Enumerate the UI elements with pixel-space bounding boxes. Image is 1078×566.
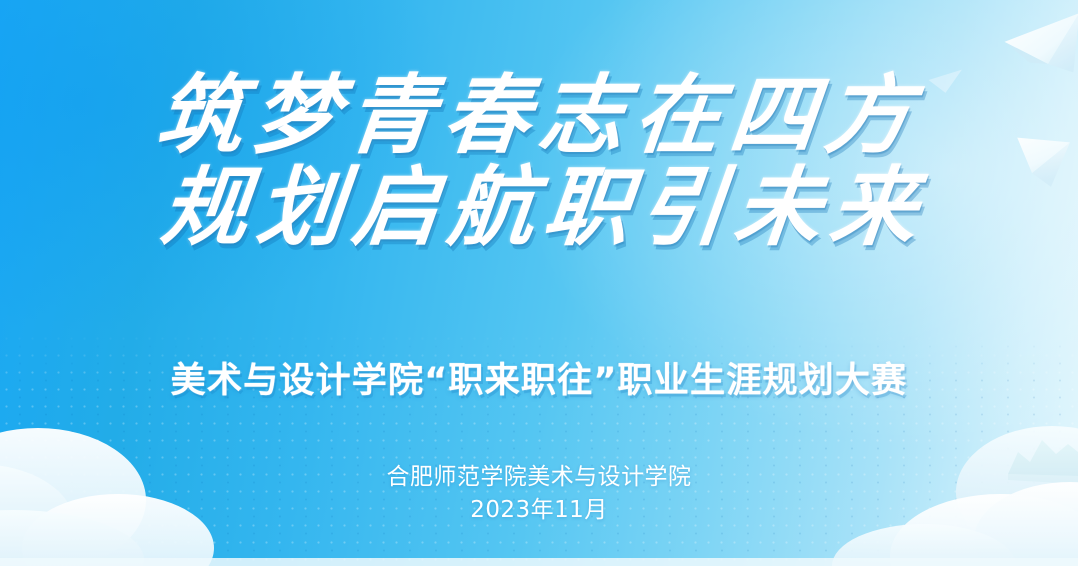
- title-line-2: 规划启航职引未来: [0, 164, 1078, 252]
- title-line-1: 筑梦青春志在四方: [0, 72, 1078, 160]
- footer-date: 2023年11月: [0, 494, 1078, 527]
- footer-organization: 合肥师范学院美术与设计学院: [0, 461, 1078, 494]
- bottom-band: [0, 558, 1078, 566]
- subtitle: 美术与设计学院“职来职往”职业生涯规划大赛: [0, 352, 1078, 403]
- career-planning-poster: 筑梦青春志在四方 规划启航职引未来 美术与设计学院“职来职往”职业生涯规划大赛 …: [0, 0, 1078, 566]
- main-title: 筑梦青春志在四方 规划启航职引未来: [0, 72, 1078, 251]
- footer: 合肥师范学院美术与设计学院 2023年11月: [0, 461, 1078, 526]
